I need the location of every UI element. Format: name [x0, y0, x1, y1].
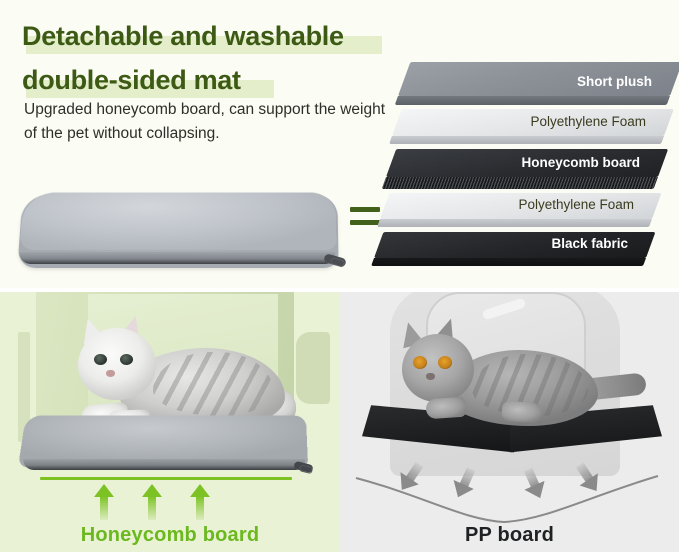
cat-head	[402, 334, 474, 402]
layer-label: Short plush	[577, 74, 652, 89]
honeycomb-mat-flat	[22, 414, 307, 482]
cat-nose	[426, 373, 435, 380]
mat-edge	[23, 459, 306, 470]
infographic-root: Detachable and washable double-sided mat…	[0, 0, 679, 552]
layer-polyethylene-foam-bottom: Polyethylene Foam	[380, 193, 652, 219]
cat-paw-front-right	[501, 401, 542, 424]
mat-top-surface	[19, 193, 336, 250]
gray-cat-photo	[380, 320, 630, 440]
cat-stripes	[153, 352, 273, 416]
headline-line-1: Detachable and washable	[22, 14, 402, 58]
headline-line-2: double-sided mat	[22, 58, 402, 102]
layer-short-plush: Short plush	[398, 62, 670, 96]
headline-text-1: Detachable and washable	[22, 21, 344, 51]
layer-black-fabric: Black fabric	[374, 232, 646, 258]
honeycomb-corrugation-edge	[382, 177, 658, 189]
headline-text-2: double-sided mat	[22, 65, 241, 95]
mat-edge	[19, 252, 335, 264]
cat-eye-right	[438, 356, 452, 369]
comparison-panel-right: PP board	[340, 292, 679, 552]
layer-side-edge	[377, 219, 652, 227]
support-arrow-up-icon	[142, 484, 162, 520]
subtitle: Upgraded honeycomb board, can support th…	[24, 98, 394, 146]
cat-nose	[106, 370, 115, 377]
support-line-flat	[40, 477, 292, 480]
comparison-section: Honeycomb board	[0, 292, 679, 552]
right-panel-label: PP board	[340, 524, 679, 547]
layer-side-edge	[371, 258, 646, 266]
layer-label: Polyethylene Foam	[530, 114, 646, 129]
top-section: Detachable and washable double-sided mat…	[0, 0, 679, 288]
cat-eye-left	[413, 356, 427, 369]
layer-label: Polyethylene Foam	[518, 197, 634, 212]
layer-honeycomb-board: Honeycomb board	[386, 149, 658, 177]
headline: Detachable and washable double-sided mat	[22, 14, 402, 102]
left-panel-label: Honeycomb board	[0, 524, 340, 547]
cat-eye-right	[120, 354, 133, 365]
cat-paw-front-left	[425, 397, 466, 420]
zipper-pull-icon	[293, 461, 313, 473]
mat-product-photo	[8, 190, 348, 282]
support-arrow-up-icon	[94, 484, 114, 520]
layer-side-edge	[389, 136, 664, 144]
cat-eye-left	[94, 354, 107, 365]
cat-head	[78, 328, 156, 400]
layer-side-edge	[395, 96, 670, 105]
layer-label: Black fabric	[551, 236, 628, 251]
equals-sign-icon	[350, 205, 380, 231]
comparison-panel-left: Honeycomb board	[0, 292, 340, 552]
carrier-strap-right	[296, 332, 330, 404]
layer-label: Honeycomb board	[521, 155, 640, 170]
layer-polyethylene-foam-top: Polyethylene Foam	[392, 109, 664, 136]
layer-stack-diagram: Short plush Polyethylene Foam Honeycomb …	[398, 62, 670, 268]
support-arrow-up-icon	[190, 484, 210, 520]
